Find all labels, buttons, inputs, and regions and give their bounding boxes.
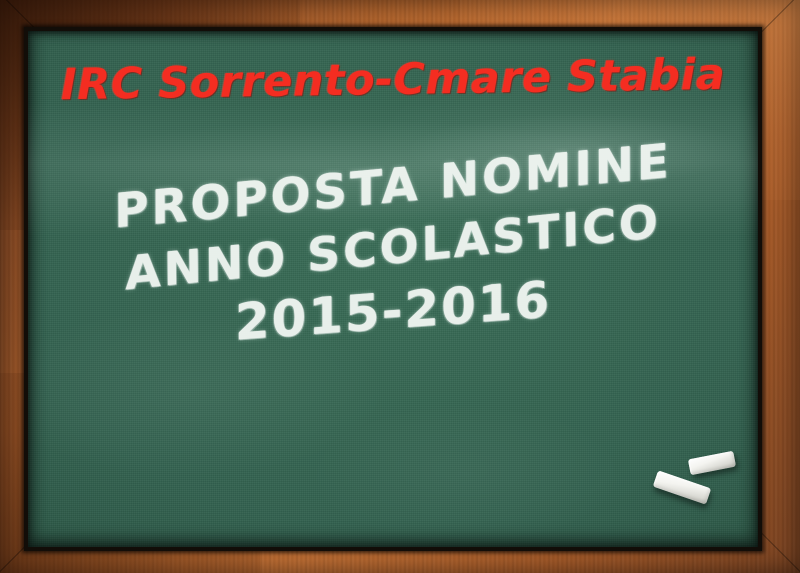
chalkboard-surface: IRC Sorrento-Cmare Stabia PROPOSTA NOMIN… xyxy=(28,31,758,547)
chalk-stick-lower xyxy=(653,470,711,504)
headline-text: IRC Sorrento-Cmare Stabia xyxy=(28,49,758,110)
chalk-text-block: PROPOSTA NOMINE ANNO SCOLASTICO 2015-201… xyxy=(28,159,758,340)
chalk-stick-upper xyxy=(688,451,736,475)
chalkboard-scene: IRC Sorrento-Cmare Stabia PROPOSTA NOMIN… xyxy=(0,0,800,573)
